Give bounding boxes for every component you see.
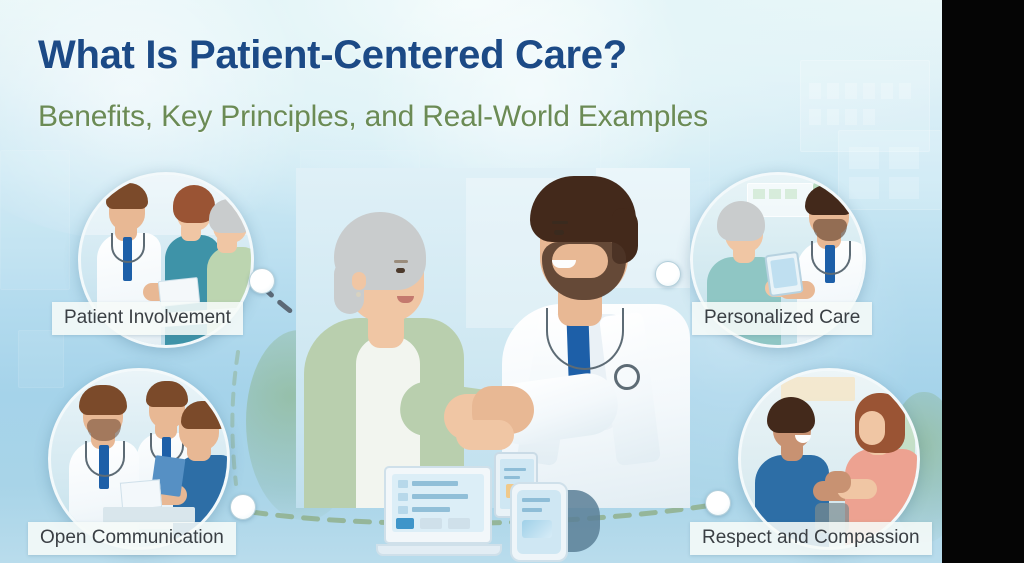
infographic-stage: What Is Patient-Centered Care? Benefits,… — [0, 0, 1024, 563]
label-respect-and-compassion: Respect and Compassion — [690, 522, 932, 555]
label-text: Respect and Compassion — [702, 527, 920, 548]
label-text: Personalized Care — [704, 307, 860, 328]
label-personalized-care: Personalized Care — [692, 302, 872, 335]
label-text: Open Communication — [40, 527, 224, 548]
label-patient-involvement: Patient Involvement — [52, 302, 243, 335]
node-dot-respect-and-compassion — [705, 490, 731, 516]
infographic-canvas: What Is Patient-Centered Care? Benefits,… — [0, 0, 942, 563]
node-dot-personalized-care — [655, 261, 681, 287]
device-cluster — [378, 452, 608, 563]
label-open-communication: Open Communication — [28, 522, 236, 555]
label-text: Patient Involvement — [64, 307, 231, 328]
node-dot-patient-involvement — [249, 268, 275, 294]
letterbox-bar — [942, 0, 1024, 563]
node-dot-open-communication — [230, 494, 256, 520]
